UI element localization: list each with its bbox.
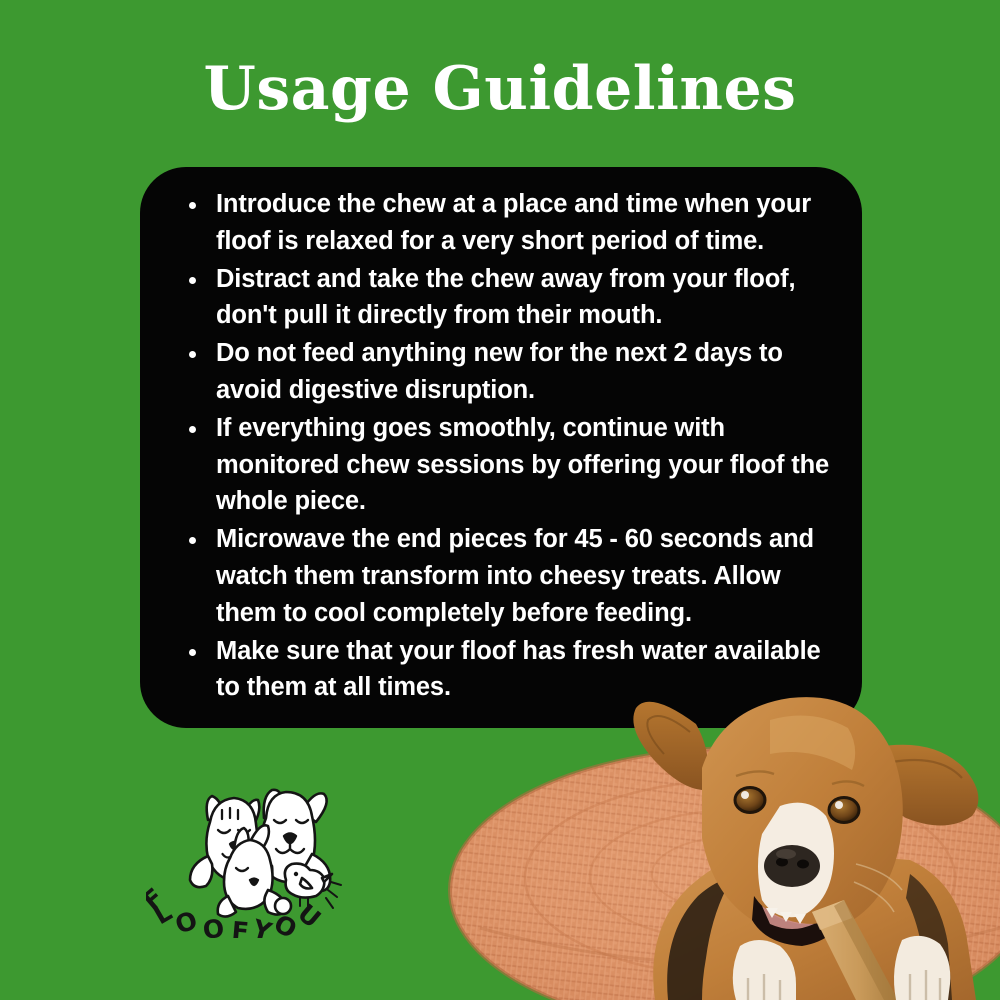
list-item: Introduce the chew at a place and time w… <box>186 186 846 260</box>
page-title: Usage Guidelines <box>0 56 1000 122</box>
list-item: Microwave the end pieces for 45 - 60 sec… <box>186 521 846 631</box>
svg-text:O: O <box>201 914 226 938</box>
svg-text:U: U <box>292 898 326 933</box>
guidelines-list: Introduce the chew at a place and time w… <box>186 186 846 707</box>
list-item: Make sure that your floof has fresh wate… <box>186 633 846 707</box>
svg-text:O: O <box>172 905 202 938</box>
list-item: Do not feed anything new for the next 2 … <box>186 335 846 409</box>
floofyou-logo: F L O O F Y O U <box>146 778 356 938</box>
usage-guidelines-poster: Usage Guidelines Introduce the chew at a… <box>0 0 1000 1000</box>
list-item: Distract and take the chew away from you… <box>186 261 846 335</box>
svg-text:F: F <box>230 916 250 938</box>
list-item: If everything goes smoothly, continue wi… <box>186 410 846 520</box>
